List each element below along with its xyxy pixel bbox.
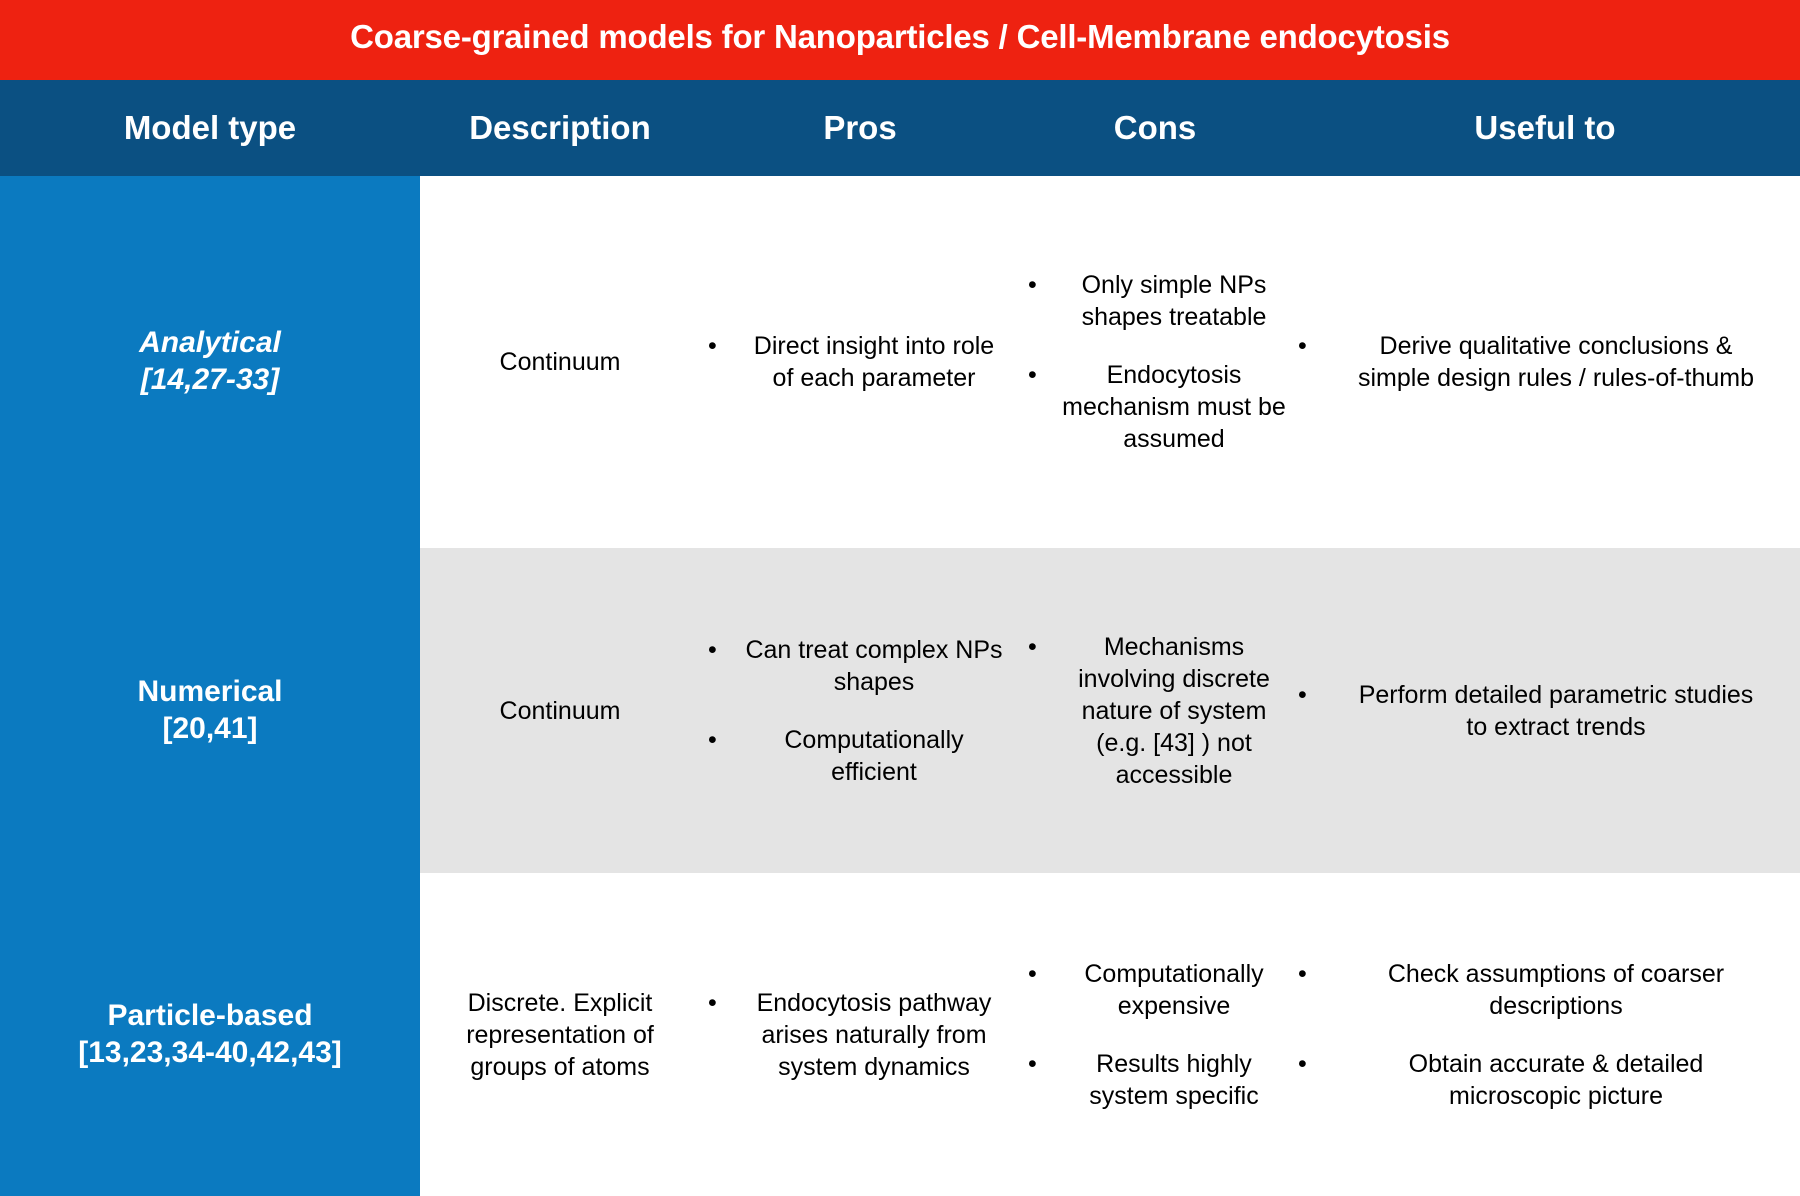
list-item: • Mechanisms involving discrete nature o… [1020,631,1288,791]
pros-list: • Endocytosis pathway arises naturally f… [700,987,1016,1083]
bullet-icon: • [1020,359,1062,391]
row-model-type: Analytical [14,27-33] [0,176,420,548]
list-item: • Perform detailed parametric studies to… [1290,679,1796,743]
column-header-description: Description [420,80,700,176]
row-useful-to: • Perform detailed parametric studies to… [1290,548,1800,873]
list-item-text: Derive qualitative conclusions & simple … [1332,330,1796,394]
list-item: • Only simple NPs shapes treatable [1020,269,1288,333]
row-description: Discrete. Explicit representation of gro… [420,873,700,1196]
model-references: [13,23,34-40,42,43] [78,1035,342,1072]
list-item: • Derive qualitative conclusions & simpl… [1290,330,1796,394]
description-text: Discrete. Explicit representation of gro… [432,987,688,1083]
row-description: Continuum [420,548,700,873]
table-row: Particle-based [13,23,34-40,42,43] Discr… [0,873,1800,1196]
model-name: Particle-based [107,998,312,1035]
model-name: Numerical [137,674,282,711]
bullet-icon: • [1020,1048,1062,1080]
list-item: • Endocytosis mechanism must be assumed [1020,359,1288,455]
bullet-icon: • [1290,958,1332,990]
table-row: Analytical [14,27-33] Continuum • Direct… [0,176,1800,548]
list-item-text: Perform detailed parametric studies to e… [1332,679,1796,743]
list-item-text: Endocytosis pathway arises naturally fro… [742,987,1016,1083]
bullet-icon: • [1290,679,1332,711]
column-header-useful-to: Useful to [1290,80,1800,176]
list-item: • Computationally expensive [1020,958,1288,1022]
table-title-bar: Coarse-grained models for Nanoparticles … [0,0,1800,80]
bullet-icon: • [700,724,742,756]
bullet-icon: • [700,634,742,666]
bullet-icon: • [1020,631,1062,663]
list-item-text: Computationally expensive [1062,958,1288,1022]
bullet-icon: • [1290,1048,1332,1080]
pros-list: • Can treat complex NPs shapes • Computa… [700,634,1016,788]
useful-to-list: • Check assumptions of coarser descripti… [1290,958,1796,1112]
list-item: • Obtain accurate & detailed microscopic… [1290,1048,1796,1112]
column-header-pros: Pros [700,80,1020,176]
table-row: Numerical [20,41] Continuum • Can treat … [0,548,1800,873]
cons-list: • Mechanisms involving discrete nature o… [1020,631,1288,791]
bullet-icon: • [700,330,742,362]
useful-to-list: • Derive qualitative conclusions & simpl… [1290,330,1796,394]
row-pros: • Direct insight into role of each param… [700,176,1020,548]
list-item-text: Computationally efficient [742,724,1016,788]
row-useful-to: • Check assumptions of coarser descripti… [1290,873,1800,1196]
bullet-icon: • [1020,958,1062,990]
row-pros: • Can treat complex NPs shapes • Computa… [700,548,1020,873]
row-cons: • Mechanisms involving discrete nature o… [1020,548,1290,873]
list-item-text: Can treat complex NPs shapes [742,634,1016,698]
table-body: Analytical [14,27-33] Continuum • Direct… [0,176,1800,1196]
bullet-icon: • [700,987,742,1019]
cons-list: • Computationally expensive • Results hi… [1020,958,1288,1112]
list-item-text: Endocytosis mechanism must be assumed [1062,359,1288,455]
row-cons: • Computationally expensive • Results hi… [1020,873,1290,1196]
row-model-type: Numerical [20,41] [0,548,420,873]
list-item-text: Direct insight into role of each paramet… [742,330,1016,394]
column-header-model-type: Model type [0,80,420,176]
useful-to-list: • Perform detailed parametric studies to… [1290,679,1796,743]
row-description: Continuum [420,176,700,548]
comparison-table: Coarse-grained models for Nanoparticles … [0,0,1800,1196]
bullet-icon: • [1290,330,1332,362]
pros-list: • Direct insight into role of each param… [700,330,1016,394]
list-item: • Endocytosis pathway arises naturally f… [700,987,1016,1083]
row-model-type: Particle-based [13,23,34-40,42,43] [0,873,420,1196]
list-item-text: Obtain accurate & detailed microscopic p… [1332,1048,1796,1112]
list-item-text: Only simple NPs shapes treatable [1062,269,1288,333]
column-header-cons: Cons [1020,80,1290,176]
row-cons: • Only simple NPs shapes treatable • End… [1020,176,1290,548]
model-name: Analytical [139,325,281,362]
page-title: Coarse-grained models for Nanoparticles … [350,18,1450,62]
description-text: Continuum [500,346,621,378]
model-references: [20,41] [162,711,257,748]
list-item-text: Results highly system specific [1062,1048,1288,1112]
list-item: • Computationally efficient [700,724,1016,788]
row-useful-to: • Derive qualitative conclusions & simpl… [1290,176,1800,548]
list-item: • Can treat complex NPs shapes [700,634,1016,698]
table-header-row: Model type Description Pros Cons Useful … [0,80,1800,176]
cons-list: • Only simple NPs shapes treatable • End… [1020,269,1288,455]
list-item: • Check assumptions of coarser descripti… [1290,958,1796,1022]
list-item-text: Mechanisms involving discrete nature of … [1062,631,1288,791]
model-references: [14,27-33] [141,362,279,399]
list-item: • Results highly system specific [1020,1048,1288,1112]
description-text: Continuum [500,695,621,727]
list-item-text: Check assumptions of coarser description… [1332,958,1796,1022]
list-item: • Direct insight into role of each param… [700,330,1016,394]
bullet-icon: • [1020,269,1062,301]
row-pros: • Endocytosis pathway arises naturally f… [700,873,1020,1196]
